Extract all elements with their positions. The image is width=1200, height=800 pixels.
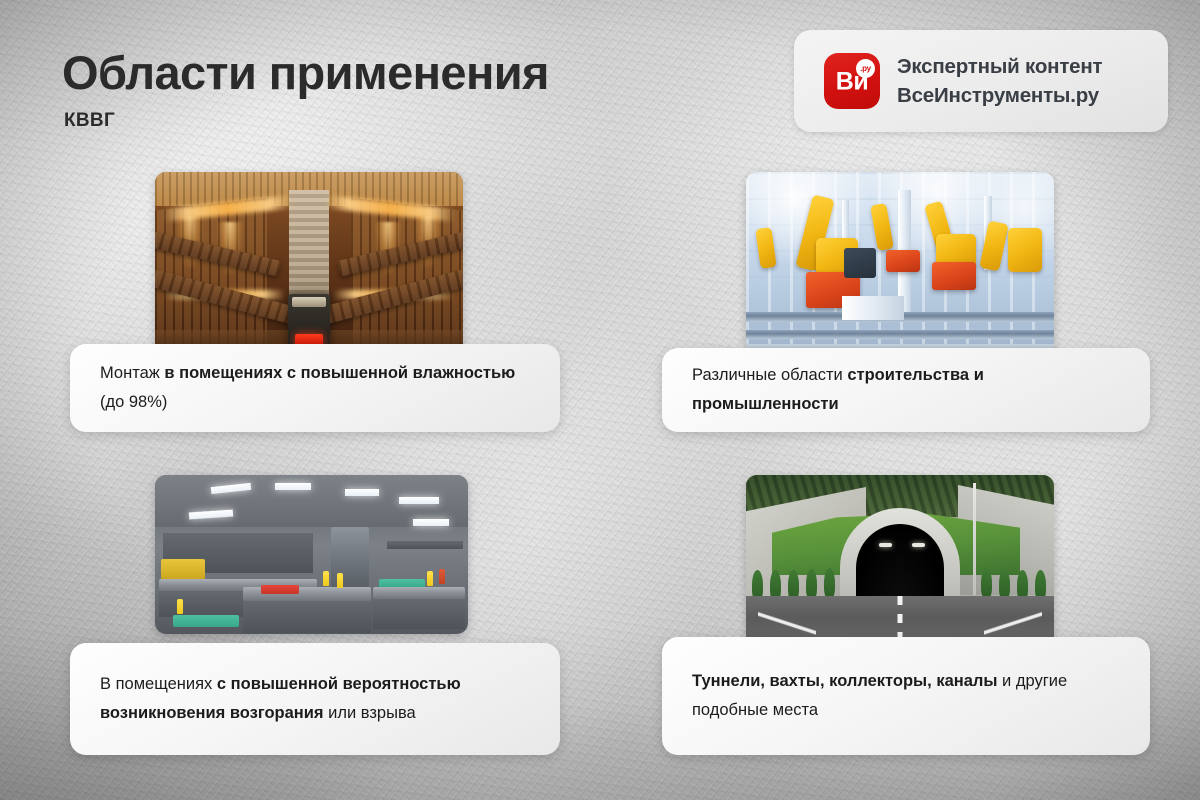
tunnel-cypress-4 <box>806 569 817 599</box>
brand-text-block: Экспертный контент ВсеИнструменты.ру <box>897 55 1102 108</box>
kitchen-right-counter <box>373 587 465 599</box>
slide-root: Области применения КВВГ Ви .ру Экспертны… <box>0 0 1200 800</box>
commercial-kitchen-photo <box>155 475 468 634</box>
sauna-stove-rocks <box>292 297 326 307</box>
sauna-interior-photo <box>155 172 463 356</box>
kitchen-bottle-3 <box>177 599 183 614</box>
tunnel-light-pole <box>973 483 976 595</box>
brand-line-1: Экспертный контент <box>897 55 1102 79</box>
kitchen-bottle-2 <box>337 573 343 588</box>
tunnel-cypress-5 <box>824 568 835 598</box>
robot-arm-5 <box>1008 228 1042 272</box>
caption-text-3: В помещениях с повышенной вероятностью в… <box>100 670 530 727</box>
factory-robots-photo <box>746 172 1054 356</box>
caption-text-4: Туннели, вахты, коллекторы, каналы и дру… <box>692 667 1120 724</box>
brand-line-2: ВсеИнструменты.ру <box>897 84 1102 108</box>
tunnel-lamp-1 <box>879 543 892 547</box>
factory-work-table <box>842 296 904 320</box>
caption-text-1: Монтаж в помещениях с повышенной влажнос… <box>100 359 530 416</box>
page-title: Области применения <box>62 48 549 97</box>
tunnel-cypress-9 <box>981 568 992 598</box>
caption-card-1: Монтаж в помещениях с повышенной влажнос… <box>70 344 560 432</box>
kitchen-right-cabinets <box>373 599 465 629</box>
brand-badge: Ви .ру Экспертный контент ВсеИнструменты… <box>794 30 1168 132</box>
kitchen-ceiling-light-5 <box>413 519 449 526</box>
robot-base-3 <box>932 262 976 290</box>
caption-card-4: Туннели, вахты, коллекторы, каналы и дру… <box>662 637 1150 755</box>
brand-logo-icon: Ви .ру <box>824 53 880 109</box>
page-subtitle: КВВГ <box>64 110 115 132</box>
kitchen-island-cabinets <box>243 601 371 633</box>
kitchen-ceiling-light-3 <box>345 489 379 496</box>
kitchen-cutting-board-red <box>261 585 299 594</box>
kitchen-ceiling-light-4 <box>399 497 439 504</box>
caption-card-3: В помещениях с повышенной вероятностью в… <box>70 643 560 755</box>
factory-red-unit <box>886 250 920 272</box>
kitchen-bottle-4 <box>427 571 433 586</box>
kitchen-ceiling-light-2 <box>275 483 311 490</box>
brand-logo-domain-badge: .ру <box>856 59 875 78</box>
kitchen-bottle-1 <box>323 571 329 586</box>
tunnel-cypress-8 <box>999 569 1010 599</box>
caption-card-2: Различные области строительства и промыш… <box>662 348 1150 432</box>
kitchen-cutting-board-green-1 <box>173 615 239 627</box>
kitchen-yellow-panel <box>161 559 205 581</box>
tunnel-lamp-2 <box>912 543 925 547</box>
factory-conveyor-rail-2 <box>746 330 1054 339</box>
kitchen-shelf <box>387 541 463 549</box>
road-tunnel-photo <box>746 475 1054 650</box>
factory-machine-unit-1 <box>844 248 876 278</box>
kitchen-bottle-5 <box>439 569 445 584</box>
caption-text-2: Различные области строительства и промыш… <box>692 361 1120 418</box>
